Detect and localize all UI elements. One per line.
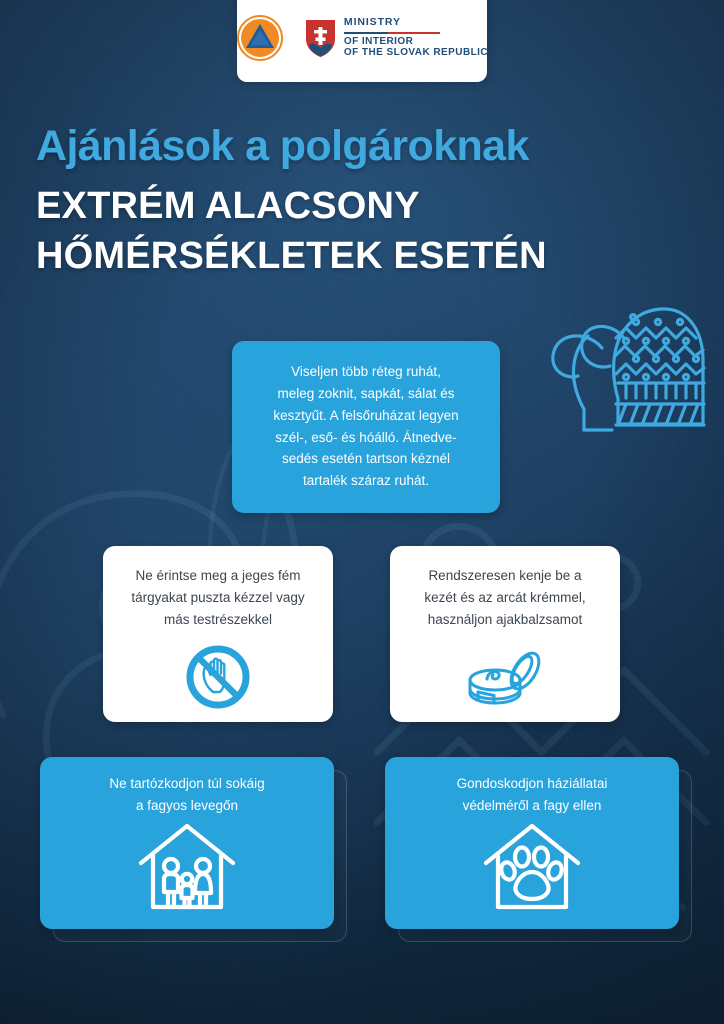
advice-card-protect-pets-text: Gondoskodjon háziállatai védelméről a fa…	[385, 757, 679, 817]
page-title-main: EXTRÉM ALACSONY HŐMÉRSÉKLETEK ESETÉN	[36, 181, 656, 281]
advice-line: védelméről a fagy ellen	[403, 795, 661, 817]
advice-line: tartalék száraz ruhát.	[252, 470, 480, 492]
page-title-accent: Ajánlások a polgároknak	[36, 124, 656, 169]
advice-line: kesztyűt. A felsőruházat legyen	[252, 405, 480, 427]
advice-card-clothing: Viseljen több réteg ruhát, meleg zoknit,…	[232, 341, 500, 513]
advice-line: Ne érintse meg a jeges fém	[117, 565, 319, 587]
advice-card-protect-pets-icon-wrap	[385, 819, 679, 915]
advice-card-protect-pets: Gondoskodjon háziállatai védelméről a fa…	[385, 757, 679, 929]
civil-protection-triangle-logo	[236, 14, 284, 62]
advice-card-use-cream-icon-wrap	[390, 648, 620, 710]
advice-card-use-cream-text: Rendszeresen kenje be a kezét és az arcá…	[390, 546, 620, 631]
infographic-poster: MINISTRY OF INTERIOR OF THE SLOVAK REPUB…	[0, 0, 724, 1024]
page-title-main-line-1: EXTRÉM ALACSONY	[36, 181, 656, 231]
advice-card-limit-outdoor-time-icon-wrap	[40, 819, 334, 915]
ministry-line-3: OF THE SLOVAK REPUBLIC	[344, 47, 488, 58]
advice-line: kezét és az arcát krémmel,	[404, 587, 606, 609]
advice-line: más testrészekkel	[117, 609, 319, 631]
advice-line: tárgyakat puszta kézzel vagy	[117, 587, 319, 609]
advice-line: használjon ajakbalzsamot	[404, 609, 606, 631]
slovak-coat-of-arms	[304, 18, 337, 58]
title-block: Ajánlások a polgároknak EXTRÉM ALACSONY …	[36, 124, 656, 281]
advice-card-limit-outdoor-time: Ne tartózkodjon túl sokáig a fagyos leve…	[40, 757, 334, 929]
advice-line: Rendszeresen kenje be a	[404, 565, 606, 587]
advice-card-limit-outdoor-time-text: Ne tartózkodjon túl sokáig a fagyos leve…	[40, 757, 334, 817]
page-title-main-line-2: HŐMÉRSÉKLETEK ESETÉN	[36, 231, 656, 281]
advice-line: a fagyos levegőn	[58, 795, 316, 817]
advice-card-use-cream: Rendszeresen kenje be a kezét és az arcá…	[390, 546, 620, 722]
ministry-logo-card: MINISTRY OF INTERIOR OF THE SLOVAK REPUB…	[237, 0, 487, 82]
advice-card-no-touch-metal-icon-wrap	[103, 644, 333, 710]
cream-jar-icon	[462, 648, 548, 710]
advice-line: sedés esetén tartson kéznél	[252, 448, 480, 470]
ministry-line-1: MINISTRY	[344, 17, 488, 30]
advice-line: Ne tartózkodjon túl sokáig	[58, 773, 316, 795]
no-touch-hand-icon	[185, 644, 251, 710]
house-family-icon	[135, 819, 239, 915]
advice-card-no-touch-metal: Ne érintse meg a jeges fém tárgyakat pus…	[103, 546, 333, 722]
advice-card-clothing-text: Viseljen több réteg ruhát, meleg zoknit,…	[232, 341, 500, 492]
advice-line: Viseljen több réteg ruhát,	[252, 361, 480, 383]
advice-line: meleg zoknit, sapkát, sálat és	[252, 383, 480, 405]
ministry-emblem-group: MINISTRY OF INTERIOR OF THE SLOVAK REPUB…	[304, 17, 488, 59]
ministry-rule	[344, 32, 440, 34]
ministry-title-block: MINISTRY OF INTERIOR OF THE SLOVAK REPUB…	[344, 17, 488, 59]
advice-line: Gondoskodjon háziállatai	[403, 773, 661, 795]
ministry-line-2: OF INTERIOR	[344, 36, 488, 47]
advice-card-no-touch-metal-text: Ne érintse meg a jeges fém tárgyakat pus…	[103, 546, 333, 631]
pet-house-paw-icon	[480, 819, 584, 915]
knitted-mittens-illustration	[540, 276, 720, 466]
advice-line: szél-, eső- és hóálló. Átnedve-	[252, 427, 480, 449]
